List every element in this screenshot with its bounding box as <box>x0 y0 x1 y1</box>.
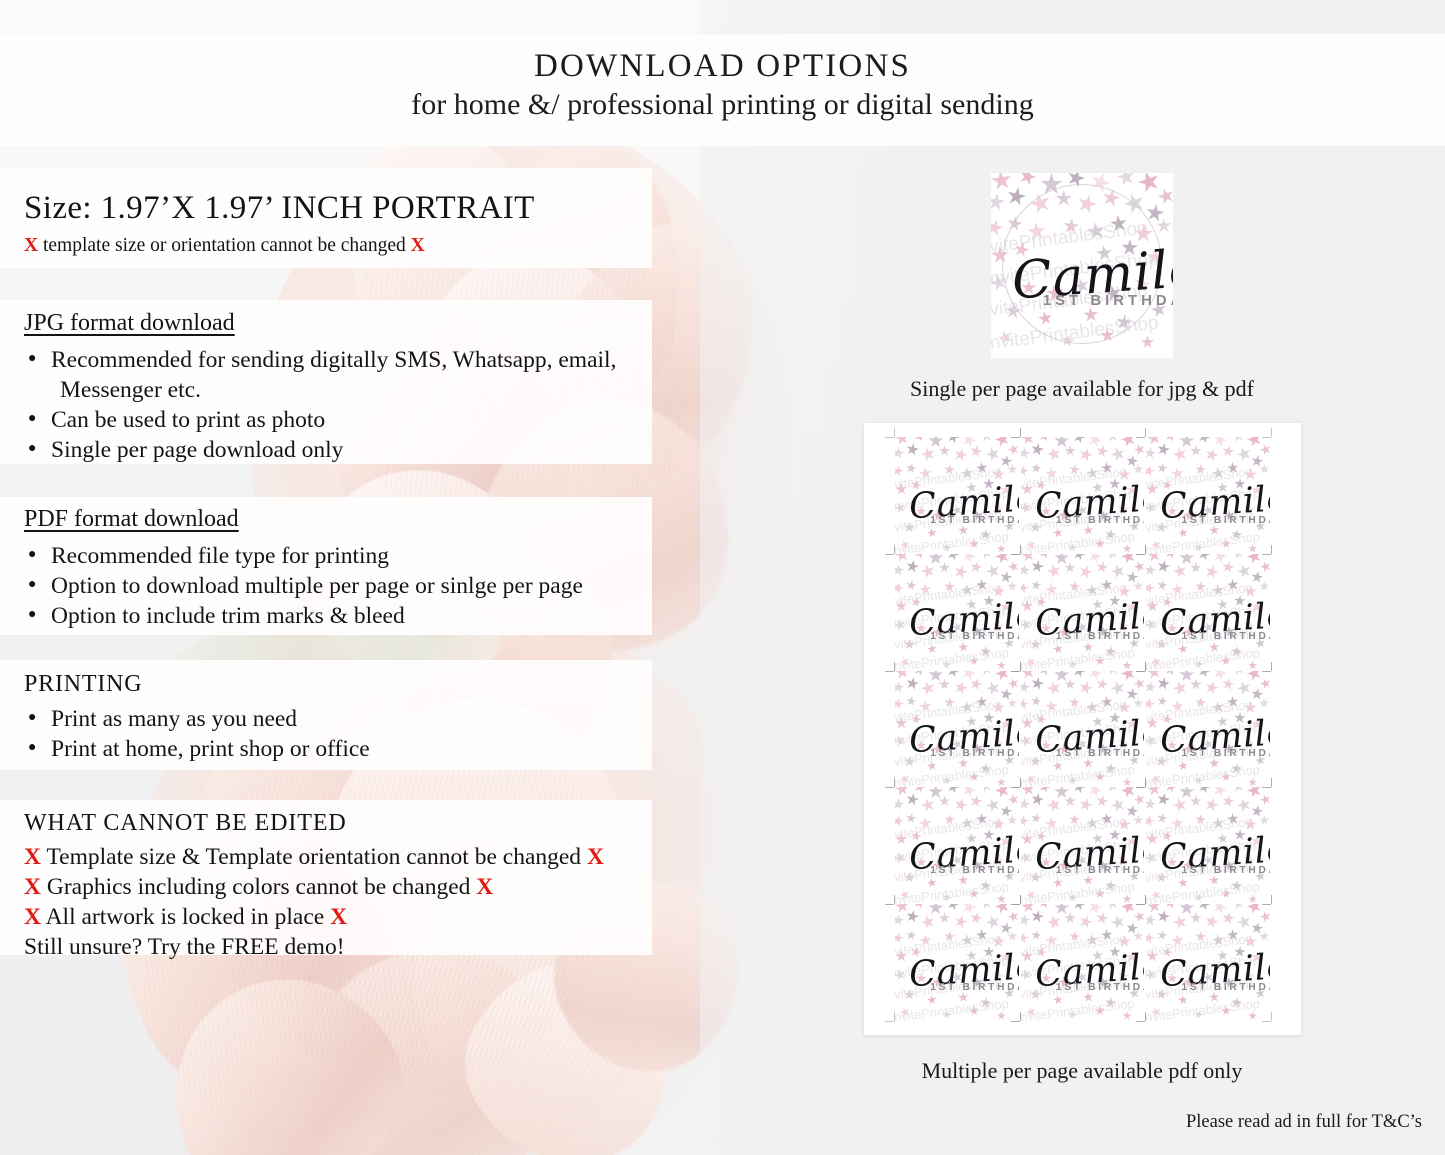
list-item: Messenger etc. <box>24 375 616 405</box>
star-icon <box>1007 793 1019 807</box>
trim-mark <box>1145 895 1146 904</box>
star-icon <box>1141 335 1155 349</box>
label-artwork: InvitePrintablesShopInvitePrintablesShop… <box>895 904 1019 1021</box>
cannot-edit-text: Template size & Template orientation can… <box>46 844 581 870</box>
star-icon <box>1248 894 1257 903</box>
label-subtitle-text: 1ST BIRTHDAY <box>1182 515 1271 526</box>
x-mark-icon: X <box>476 874 493 900</box>
star-icon <box>1122 1011 1131 1020</box>
trim-mark <box>1011 437 1020 438</box>
cannot-edit-section: WHAT CANNOT BE EDITED X Template size & … <box>24 810 604 962</box>
list-item: Print at home, print shop or office <box>24 734 370 764</box>
cannot-edit-line: X All artwork is locked in place X <box>24 902 604 932</box>
star-icon <box>1193 776 1204 787</box>
star-icon <box>1258 676 1270 690</box>
trim-mark <box>1271 662 1272 671</box>
label-subtitle-text: 1ST BIRTHDAY <box>1182 865 1271 876</box>
star-icon <box>1007 910 1019 924</box>
pdf-bullet-list: Recommended file type for printing Optio… <box>24 541 583 631</box>
star-icon <box>1193 892 1204 903</box>
trim-mark <box>1011 904 1020 905</box>
star-icon <box>991 173 1014 192</box>
label-artwork: InvitePrintablesShopInvitePrintablesShop… <box>1146 437 1270 554</box>
trim-mark <box>1136 671 1145 672</box>
star-icon <box>1193 1009 1204 1020</box>
label-subtitle-text: 1ST BIRTHDAY <box>1182 748 1271 759</box>
label-artwork: InvitePrintablesShopInvitePrintablesShop… <box>895 437 1019 554</box>
list-item[interactable]: InvitePrintablesShopInvitePrintablesShop… <box>1145 671 1271 788</box>
list-item: Option to include trim marks & bleed <box>24 601 583 631</box>
trim-mark <box>1145 662 1146 671</box>
star-icon <box>1258 814 1269 825</box>
trim-mark <box>1020 662 1021 671</box>
list-item[interactable]: InvitePrintablesShopInvitePrintablesShop… <box>1020 671 1146 788</box>
label-artwork: InvitePrintablesShopInvitePrintablesShop… <box>1146 787 1270 904</box>
label-subtitle-text: 1ST BIRTHDAY <box>1056 865 1145 876</box>
star-icon <box>1258 559 1270 573</box>
trim-mark <box>1262 1021 1271 1022</box>
trim-mark <box>1011 787 1020 788</box>
size-note: X template size or orientation cannot be… <box>24 235 535 257</box>
label-artwork: InvitePrintablesShopInvitePrintablesShop… <box>991 173 1173 358</box>
label-artwork: InvitePrintablesShopInvitePrintablesShop… <box>1146 554 1270 671</box>
star-icon <box>997 1011 1006 1020</box>
printing-section: PRINTING Print as many as you need Print… <box>24 671 370 764</box>
star-icon <box>1115 173 1137 187</box>
label-artwork: InvitePrintablesShopInvitePrintablesShop… <box>1146 671 1270 788</box>
label-subtitle-text: 1ST BIRTHDAY <box>1182 631 1271 642</box>
star-icon <box>1248 661 1257 670</box>
list-item[interactable]: InvitePrintablesShopInvitePrintablesShop… <box>1020 554 1146 671</box>
star-icon <box>1007 931 1018 942</box>
star-icon <box>1132 910 1144 924</box>
label-subtitle-text: 1ST BIRTHDAY <box>1043 292 1173 309</box>
star-icon <box>1248 1011 1257 1020</box>
star-icon <box>1122 778 1131 787</box>
list-item: Print as many as you need <box>24 704 370 734</box>
star-icon <box>997 544 1006 553</box>
trim-mark <box>1145 778 1146 787</box>
list-item[interactable]: InvitePrintablesShopInvitePrintablesShop… <box>1145 904 1271 1021</box>
label-artwork: InvitePrintablesShopInvitePrintablesShop… <box>1021 554 1145 671</box>
pdf-heading: PDF format download <box>24 506 239 533</box>
star-icon <box>997 778 1006 787</box>
single-preview-caption: Single per page available for jpg & pdf <box>882 376 1282 402</box>
star-icon <box>1258 581 1269 592</box>
cannot-edit-line: X Graphics including colors cannot be ch… <box>24 872 604 902</box>
trim-mark <box>1136 437 1145 438</box>
label-subtitle-text: 1ST BIRTHDAY <box>930 982 1019 993</box>
star-icon <box>1122 661 1131 670</box>
trim-mark <box>1011 1021 1020 1022</box>
trim-mark <box>1271 545 1272 554</box>
pdf-heading-wrap: PDF format download <box>24 506 583 533</box>
printing-bullet-list: Print as many as you need Print at home,… <box>24 704 370 764</box>
trim-mark <box>885 787 894 788</box>
trim-mark <box>894 662 895 671</box>
list-item: Can be used to print as photo <box>24 405 616 435</box>
label-subtitle-text: 1ST BIRTHDAY <box>1056 515 1145 526</box>
star-icon <box>1248 544 1257 553</box>
star-icon <box>1248 778 1257 787</box>
pdf-section: PDF format download Recommended file typ… <box>24 506 583 631</box>
trim-mark <box>1011 671 1020 672</box>
star-icon <box>1067 776 1078 787</box>
page-root: DOWNLOAD OPTIONS for home &/ professiona… <box>0 0 1445 1155</box>
terms-footnote: Please read ad in full for T&C’s <box>1186 1112 1422 1133</box>
list-item: Recommended for sending digitally SMS, W… <box>24 345 616 375</box>
trim-mark <box>885 904 894 905</box>
list-item[interactable]: InvitePrintablesShopInvitePrintablesShop… <box>1020 787 1146 904</box>
star-icon <box>996 327 1015 346</box>
star-icon <box>1067 542 1078 553</box>
list-item[interactable]: InvitePrintablesShopInvitePrintablesShop… <box>1145 787 1271 904</box>
star-icon <box>1133 581 1144 592</box>
list-item: Single per page download only <box>24 435 616 465</box>
trim-mark <box>894 428 895 437</box>
label-artwork: InvitePrintablesShopInvitePrintablesShop… <box>1146 904 1270 1021</box>
cannot-edit-text: Graphics including colors cannot be chan… <box>47 874 471 900</box>
label-artwork: InvitePrintablesShopInvitePrintablesShop… <box>1021 787 1145 904</box>
x-mark-icon: X <box>411 235 425 256</box>
cannot-edit-line: X Template size & Template orientation c… <box>24 842 604 872</box>
label-subtitle-text: 1ST BIRTHDAY <box>930 631 1019 642</box>
star-icon <box>1067 1009 1078 1020</box>
page-title: DOWNLOAD OPTIONS <box>0 48 1445 85</box>
label-artwork: InvitePrintablesShopInvitePrintablesShop… <box>1021 437 1145 554</box>
star-icon <box>1007 676 1019 690</box>
jpg-section: JPG format download Recommended for send… <box>24 310 616 465</box>
trim-mark <box>894 545 895 554</box>
label-artwork: InvitePrintablesShopInvitePrintablesShop… <box>1021 671 1145 788</box>
star-icon <box>1007 443 1019 457</box>
star-icon <box>1258 931 1269 942</box>
label-artwork: InvitePrintablesShopInvitePrintablesShop… <box>895 671 1019 788</box>
jpg-heading-wrap: JPG format download <box>24 310 616 337</box>
label-artwork: InvitePrintablesShopInvitePrintablesShop… <box>895 554 1019 671</box>
trim-mark <box>1020 545 1021 554</box>
star-icon <box>1132 443 1144 457</box>
star-icon <box>1155 186 1173 207</box>
trim-mark <box>1271 778 1272 787</box>
trim-mark <box>894 1012 895 1021</box>
sheet-preview-caption: Multiple per page available pdf only <box>882 1058 1282 1084</box>
size-title: Size: 1.97’X 1.97’ INCH PORTRAIT <box>24 190 535 227</box>
cannot-edit-closing: Still unsure? Try the FREE demo! <box>24 932 604 962</box>
star-icon <box>1258 910 1270 924</box>
cannot-edit-text: All artwork is locked in place <box>46 904 325 930</box>
star-icon <box>941 542 952 553</box>
star-icon <box>1122 544 1131 553</box>
list-item[interactable]: InvitePrintablesShopInvitePrintablesShop… <box>894 437 1020 554</box>
trim-mark <box>1145 545 1146 554</box>
list-item[interactable]: InvitePrintablesShopInvitePrintablesShop… <box>894 671 1020 788</box>
x-mark-icon: X <box>24 904 41 930</box>
trim-mark <box>1136 787 1145 788</box>
trim-mark <box>1136 1021 1145 1022</box>
multi-label-sheet[interactable]: InvitePrintablesShopInvitePrintablesShop… <box>864 423 1301 1035</box>
list-item[interactable]: InvitePrintablesShopInvitePrintablesShop… <box>894 554 1020 671</box>
star-icon <box>1005 185 1028 208</box>
star-icon <box>1067 659 1078 670</box>
trim-mark <box>894 895 895 904</box>
trim-mark <box>1020 1012 1021 1021</box>
label-subtitle-text: 1ST BIRTHDAY <box>930 748 1019 759</box>
trim-mark <box>885 1021 894 1022</box>
star-icon <box>1132 793 1144 807</box>
trim-mark <box>885 554 894 555</box>
star-icon <box>1193 659 1204 670</box>
trim-mark <box>885 437 894 438</box>
list-item[interactable]: InvitePrintablesShopInvitePrintablesShop… <box>894 787 1020 904</box>
printing-heading: PRINTING <box>24 671 370 698</box>
trim-mark <box>1262 554 1271 555</box>
trim-mark <box>1011 554 1020 555</box>
star-icon <box>991 192 1007 212</box>
trim-mark <box>1262 787 1271 788</box>
star-icon <box>1258 793 1270 807</box>
list-item[interactable]: InvitePrintablesShopInvitePrintablesShop… <box>1020 437 1146 554</box>
list-item[interactable]: InvitePrintablesShopInvitePrintablesShop… <box>1145 554 1271 671</box>
label-subtitle-text: 1ST BIRTHDAY <box>1182 982 1271 993</box>
x-mark-icon: X <box>24 235 38 256</box>
jpg-bullet-list: Recommended for sending digitally SMS, W… <box>24 345 616 465</box>
star-icon <box>991 217 1005 238</box>
trim-mark <box>1020 895 1021 904</box>
star-icon <box>1258 443 1270 457</box>
star-icon <box>1193 542 1204 553</box>
trim-mark <box>1136 554 1145 555</box>
list-item: Recommended file type for printing <box>24 541 583 571</box>
label-subtitle-text: 1ST BIRTHDAY <box>1056 982 1145 993</box>
page-subtitle: for home &/ professional printing or dig… <box>0 88 1445 122</box>
star-icon <box>941 776 952 787</box>
trim-mark <box>885 671 894 672</box>
star-icon <box>1007 559 1019 573</box>
label-artwork: InvitePrintablesShopInvitePrintablesShop… <box>895 787 1019 904</box>
star-icon <box>941 892 952 903</box>
x-mark-icon: X <box>587 844 604 870</box>
star-icon <box>941 659 952 670</box>
label-subtitle-text: 1ST BIRTHDAY <box>1056 748 1145 759</box>
trim-mark <box>1145 1012 1146 1021</box>
star-icon <box>1258 464 1269 475</box>
star-icon <box>1136 173 1164 196</box>
star-icon <box>997 661 1006 670</box>
trim-mark <box>1262 671 1271 672</box>
star-icon <box>1007 464 1018 475</box>
label-subtitle-text: 1ST BIRTHDAY <box>930 865 1019 876</box>
trim-mark <box>1271 428 1272 437</box>
star-icon <box>1258 698 1269 709</box>
size-note-text: template size or orientation cannot be c… <box>43 235 406 256</box>
x-mark-icon: X <box>24 874 41 900</box>
trim-mark <box>894 778 895 787</box>
list-item[interactable]: InvitePrintablesShopInvitePrintablesShop… <box>894 904 1020 1021</box>
trim-mark <box>1145 428 1146 437</box>
list-item[interactable]: InvitePrintablesShopInvitePrintablesShop… <box>1020 904 1146 1021</box>
trim-mark <box>1271 1012 1272 1021</box>
x-mark-icon: X <box>24 844 41 870</box>
jpg-heading: JPG format download <box>24 310 235 337</box>
trim-mark <box>1262 437 1271 438</box>
list-item[interactable]: InvitePrintablesShopInvitePrintablesShop… <box>1145 437 1271 554</box>
star-icon <box>1132 676 1144 690</box>
single-label-preview[interactable]: InvitePrintablesShopInvitePrintablesShop… <box>991 173 1173 358</box>
star-icon <box>1016 173 1038 188</box>
star-icon <box>1067 892 1078 903</box>
x-mark-icon: X <box>330 904 347 930</box>
star-icon <box>941 1009 952 1020</box>
star-icon <box>1132 559 1144 573</box>
trim-mark <box>1136 904 1145 905</box>
trim-mark <box>1020 428 1021 437</box>
star-icon <box>1122 894 1131 903</box>
label-subtitle-text: 1ST BIRTHDAY <box>930 515 1019 526</box>
trim-mark <box>1020 778 1021 787</box>
trim-mark <box>1271 895 1272 904</box>
trim-mark <box>1262 904 1271 905</box>
list-item: Option to download multiple per page or … <box>24 571 583 601</box>
star-icon <box>997 894 1006 903</box>
size-section: Size: 1.97’X 1.97’ INCH PORTRAIT X templ… <box>24 190 535 257</box>
label-subtitle-text: 1ST BIRTHDAY <box>1056 631 1145 642</box>
cannot-edit-heading: WHAT CANNOT BE EDITED <box>24 810 604 837</box>
label-artwork: InvitePrintablesShopInvitePrintablesShop… <box>1021 904 1145 1021</box>
